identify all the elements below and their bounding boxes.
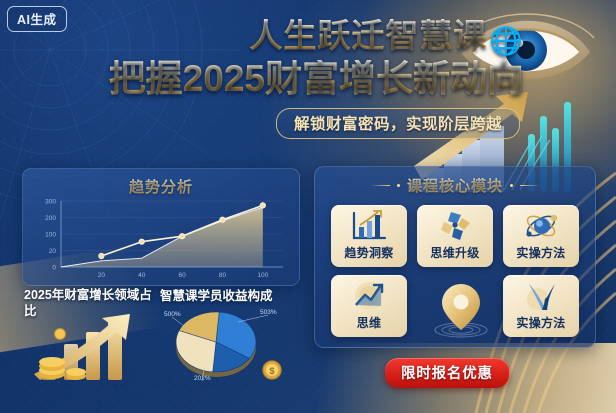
svg-text:0: 0 [52,265,56,272]
core-modules-panel: 课程核心模块 趋势洞察 [314,166,596,348]
ai-generated-badge: AI生成 [7,6,67,32]
wealth-stat-title: 2025年财富增长领域占比 [24,288,164,319]
module-label: 实操方法 [516,314,565,331]
module-card-trend-insight[interactable]: 趋势洞察 [331,205,407,267]
headline-block: 人生跃迁智慧课🌐 把握2025财富增长新动向 解锁财富密码，实现阶层跨越 [0,0,616,139]
module-card-practical-methods-2[interactable]: 实操方法 [503,275,579,337]
svg-text:300: 300 [45,199,56,206]
cta-badge[interactable]: 限时报名优惠 [385,358,509,388]
svg-text:500%: 500% [164,311,181,318]
module-label: 实操方法 [516,244,565,261]
svg-text:202%: 202% [194,375,211,382]
core-modules-title: 课程核心模块 [407,175,503,196]
income-pie-chart: 503%202%500%$ [160,300,290,386]
divider-dot-right [510,184,513,187]
module-label: 思维 [357,314,382,331]
headline-subtitle: 解锁财富密码，实现阶层跨越 [276,108,520,139]
wealth-stat-block: 2025年财富增长领域占比 [24,288,164,319]
checkmark-swoosh-icon [521,279,561,313]
line-arrow-up-icon [349,279,389,313]
trend-analysis-title: 趋势分析 [23,176,299,197]
module-label: 趋势洞察 [344,244,393,261]
svg-text:20: 20 [98,272,106,279]
module-card-placeholder [417,275,493,337]
abstract-shapes-icon [435,209,475,243]
svg-text:20: 20 [49,248,57,255]
svg-text:60: 60 [178,272,186,279]
module-label: 思维升级 [430,244,479,261]
promo-poster: AI生成 人生跃迁智慧课🌐 把握2025财富增长新动向 解锁财富密码，实现阶层跨… [0,0,616,413]
headline-line-1: 人生跃迁智慧课🌐 [249,19,524,55]
module-card-mindset-upgrade[interactable]: 思维升级 [417,205,493,267]
headline-line-1-text: 人生跃迁智慧课 [249,17,487,54]
divider-dash-left [372,185,390,186]
svg-text:200: 200 [45,215,56,222]
svg-text:$: $ [269,366,274,376]
divider-dot-left [397,184,400,187]
svg-text:40: 40 [138,272,146,279]
svg-text:503%: 503% [260,309,277,316]
module-card-practical-methods-1[interactable]: 实操方法 [503,205,579,267]
svg-text:100: 100 [257,272,268,279]
core-modules-grid: 趋势洞察 思维升级 [315,205,595,337]
atom-orbit-icon [521,209,561,243]
bar-chart-growth-icon [349,209,389,243]
trend-line-chart: 02010020030020406080100 [31,195,293,281]
divider-dash-right [520,185,538,186]
pie-block: 智慧课学员收益构成 [160,285,306,304]
svg-text:80: 80 [219,272,227,279]
core-modules-header: 课程核心模块 [315,175,595,196]
globe-icon: 🌐 [489,26,524,56]
wealth-bar-illustration [18,312,168,382]
headline-line-2: 把握2025财富增长新动向 [0,60,524,97]
module-card-mindset[interactable]: 思维 [331,275,407,337]
pie-chart-title: 智慧课学员收益构成 [160,285,306,304]
svg-text:100: 100 [45,232,56,239]
trend-analysis-card: 趋势分析 02010020030020406080100 [22,168,300,286]
